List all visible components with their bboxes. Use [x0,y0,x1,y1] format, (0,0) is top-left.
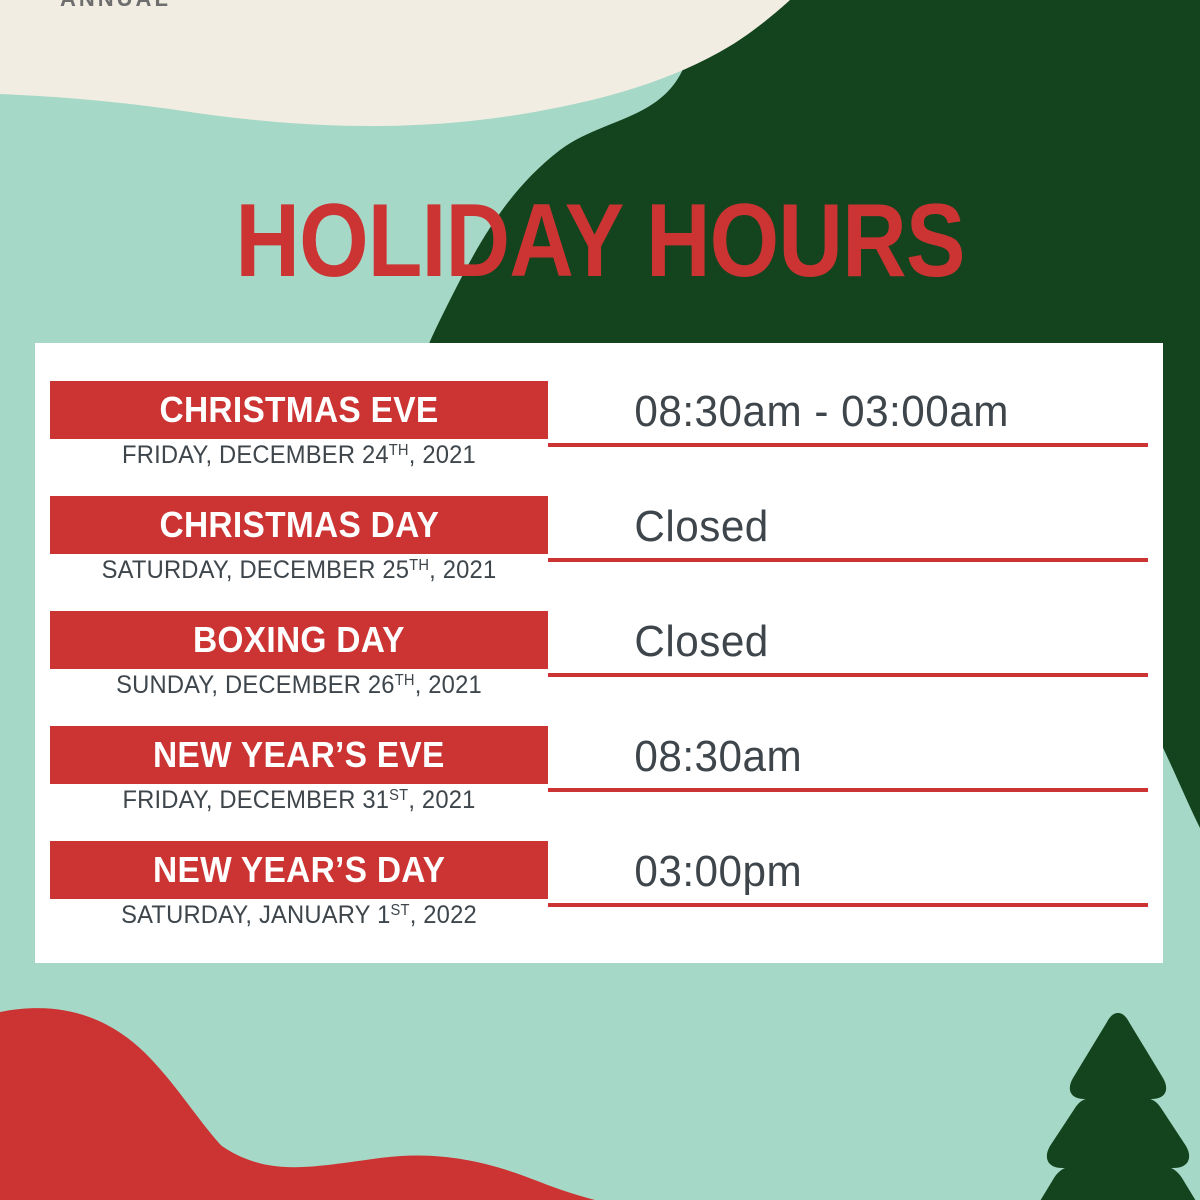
holiday-name-bar: CHRISTMAS EVE [50,381,548,439]
schedule-row: NEW YEAR’S EVE FRIDAY, DECEMBER 31ST, 20… [35,726,1163,841]
holiday-date-year: , 2021 [409,441,476,469]
holiday-hours-cell: Closed [548,611,1148,677]
holiday-hours: 03:00pm [548,847,802,897]
holiday-date: FRIDAY, DECEMBER 31ST, 2021 [62,786,535,815]
schedule-rows: CHRISTMAS EVE FRIDAY, DECEMBER 24TH, 202… [35,343,1163,963]
holiday-date-prefix: SUNDAY, DECEMBER 26 [116,671,395,699]
holiday-hours-cell: Closed [548,496,1148,562]
holiday-date-year: , 2021 [429,556,496,584]
schedule-row: CHRISTMAS EVE FRIDAY, DECEMBER 24TH, 202… [35,381,1163,496]
holiday-date-prefix: SATURDAY, DECEMBER 25 [102,556,410,584]
schedule-card: CHRISTMAS EVE FRIDAY, DECEMBER 24TH, 202… [35,343,1163,963]
holiday-name: CHRISTMAS EVE [160,389,439,431]
holiday-date-ordinal: TH [389,442,409,459]
holiday-name-bar: CHRISTMAS DAY [50,496,548,554]
holiday-hours-cell: 03:00pm [548,841,1148,907]
holiday-date-ordinal: TH [395,672,415,689]
holiday-date-prefix: FRIDAY, DECEMBER 31 [122,786,389,814]
holiday-name: NEW YEAR’S EVE [153,734,445,776]
holiday-date-ordinal: TH [409,557,429,574]
holiday-name: NEW YEAR’S DAY [153,849,445,891]
holiday-name-bar: NEW YEAR’S DAY [50,841,548,899]
holiday-hours: 08:30am - 03:00am [548,387,1009,437]
holiday-name-bar: BOXING DAY [50,611,548,669]
schedule-row: BOXING DAY SUNDAY, DECEMBER 26TH, 2021 C… [35,611,1163,726]
holiday-date: SATURDAY, DECEMBER 25TH, 2021 [62,556,535,585]
holiday-date-year: , 2022 [410,901,477,929]
schedule-row: NEW YEAR’S DAY SATURDAY, JANUARY 1ST, 20… [35,841,1163,956]
page-title: HOLIDAY HOURS [84,186,1116,296]
holiday-name-bar: NEW YEAR’S EVE [50,726,548,784]
holiday-hours: 08:30am [548,732,802,782]
holiday-date-prefix: FRIDAY, DECEMBER 24 [122,441,389,469]
holiday-hours: Closed [548,502,769,552]
holiday-date: SUNDAY, DECEMBER 26TH, 2021 [62,671,535,700]
holiday-date-year: , 2021 [408,786,475,814]
holiday-date: SATURDAY, JANUARY 1ST, 2022 [62,901,535,930]
holiday-hours: Closed [548,617,769,667]
schedule-row: CHRISTMAS DAY SATURDAY, DECEMBER 25TH, 2… [35,496,1163,611]
holiday-hours-cell: 08:30am - 03:00am [548,381,1148,447]
holiday-date-ordinal: ST [389,787,408,804]
holiday-date-year: , 2021 [415,671,482,699]
holiday-name: BOXING DAY [193,619,405,661]
holiday-name: CHRISTMAS DAY [159,504,439,546]
holiday-date: FRIDAY, DECEMBER 24TH, 2021 [62,441,535,470]
holiday-date-prefix: SATURDAY, JANUARY 1 [121,901,390,929]
holiday-hours-poster: ANNUAL HOLIDAY HOURS CHRISTMAS EVE FRIDA… [0,0,1200,1200]
holiday-hours-cell: 08:30am [548,726,1148,792]
clipped-top-text: ANNUAL [60,0,171,12]
holiday-date-ordinal: ST [390,902,409,919]
